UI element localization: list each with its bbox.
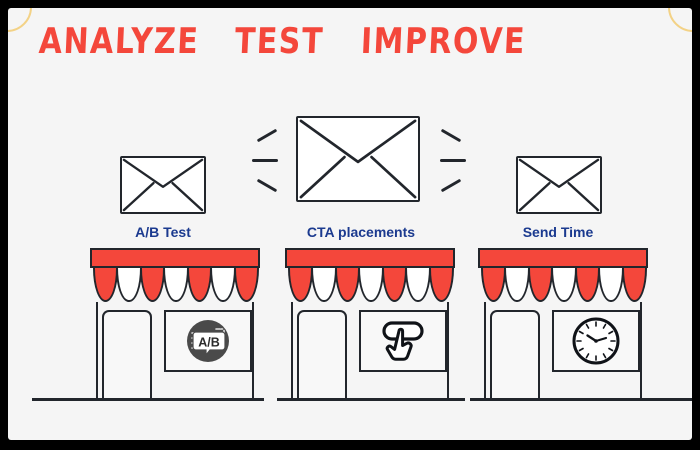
shop-door <box>102 310 152 400</box>
shop-ab-test: A/B <box>90 248 260 408</box>
envelope-flap <box>518 158 600 212</box>
awning-top-bar <box>285 248 455 268</box>
headline-word-test: TEST <box>234 25 325 60</box>
ground-line <box>32 398 264 401</box>
ab-test-icon: A/B <box>180 316 236 366</box>
click-button-icon <box>377 317 429 365</box>
clock-icon <box>570 315 622 367</box>
headline-word-improve: IMPROVE <box>360 25 527 60</box>
envelope-right-icon <box>516 156 602 214</box>
ground-line <box>277 398 465 401</box>
envelope-center-icon <box>296 116 420 202</box>
shop-door <box>297 310 347 400</box>
sparkle-lines-left <box>252 126 296 196</box>
headline-word-analyze: ANALYZE <box>38 25 200 60</box>
envelope-flap <box>298 118 418 200</box>
shop-send-time <box>478 248 648 408</box>
illustration-canvas: ANALYZE TEST IMPROVE <box>8 8 692 440</box>
shop-label-cta-placements: CTA placements <box>291 224 431 240</box>
shop-label-send-time: Send Time <box>493 224 623 240</box>
shop-window <box>359 310 447 372</box>
shop-window: A/B <box>164 310 252 372</box>
shop-door <box>490 310 540 400</box>
shop-cta-placements <box>285 248 455 408</box>
svg-text:A/B: A/B <box>198 336 220 350</box>
headline: ANALYZE TEST IMPROVE <box>38 30 525 60</box>
image-frame: ANALYZE TEST IMPROVE <box>0 0 700 450</box>
shop-window <box>552 310 640 372</box>
sparkle-lines-right <box>422 126 466 196</box>
corner-accent-top-right <box>668 8 692 32</box>
awning-top-bar <box>478 248 648 268</box>
corner-accent-top-left <box>8 8 32 32</box>
awning-scallops <box>288 268 452 302</box>
envelope-flap <box>122 158 204 212</box>
envelope-left-icon <box>120 156 206 214</box>
awning-top-bar <box>90 248 260 268</box>
awning-scallops <box>481 268 645 302</box>
shop-label-ab-test: A/B Test <box>98 224 228 240</box>
awning-scallops <box>93 268 257 302</box>
ground-line <box>470 398 692 401</box>
